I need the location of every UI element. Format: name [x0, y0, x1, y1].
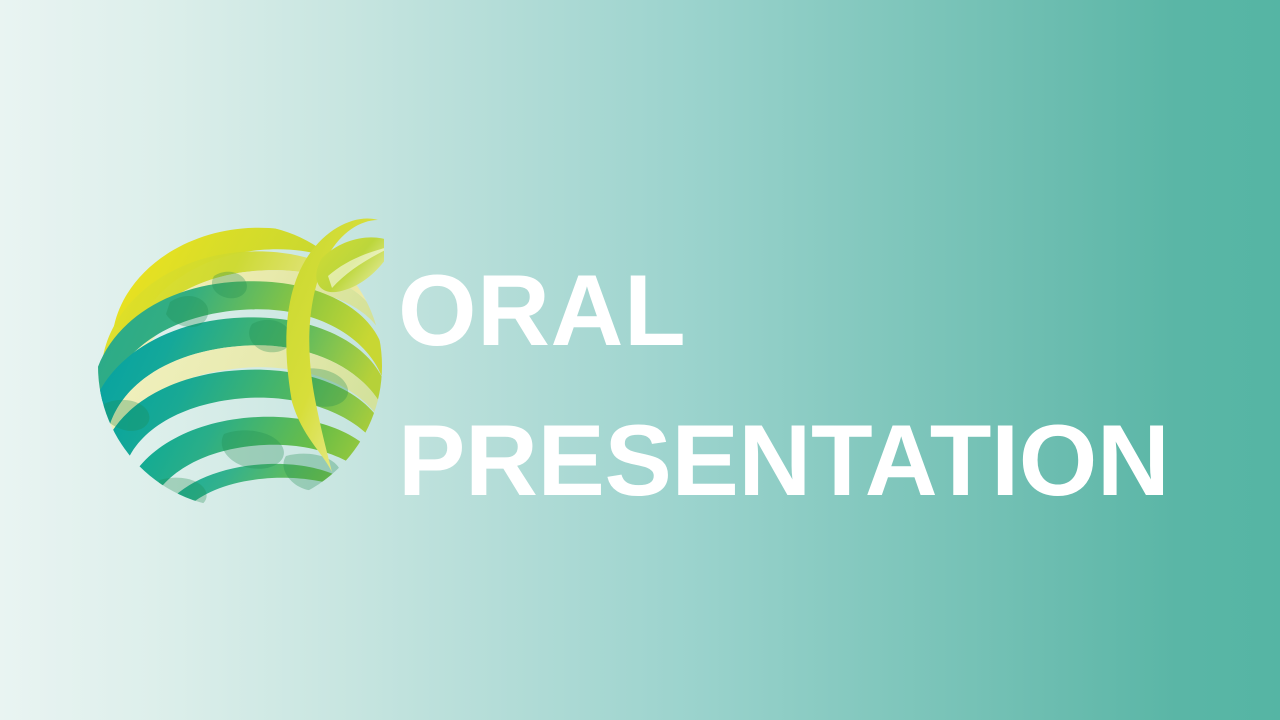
globe-leaf-logo	[96, 206, 384, 516]
headline-line-1: ORAL	[398, 236, 1238, 386]
headline-line-2: PRESENTATION	[398, 386, 1238, 536]
slide-headline: ORAL PRESENTATION	[398, 236, 1238, 536]
presentation-slide: ORAL PRESENTATION	[0, 0, 1280, 720]
globe-leaf-logo-svg	[96, 206, 384, 516]
